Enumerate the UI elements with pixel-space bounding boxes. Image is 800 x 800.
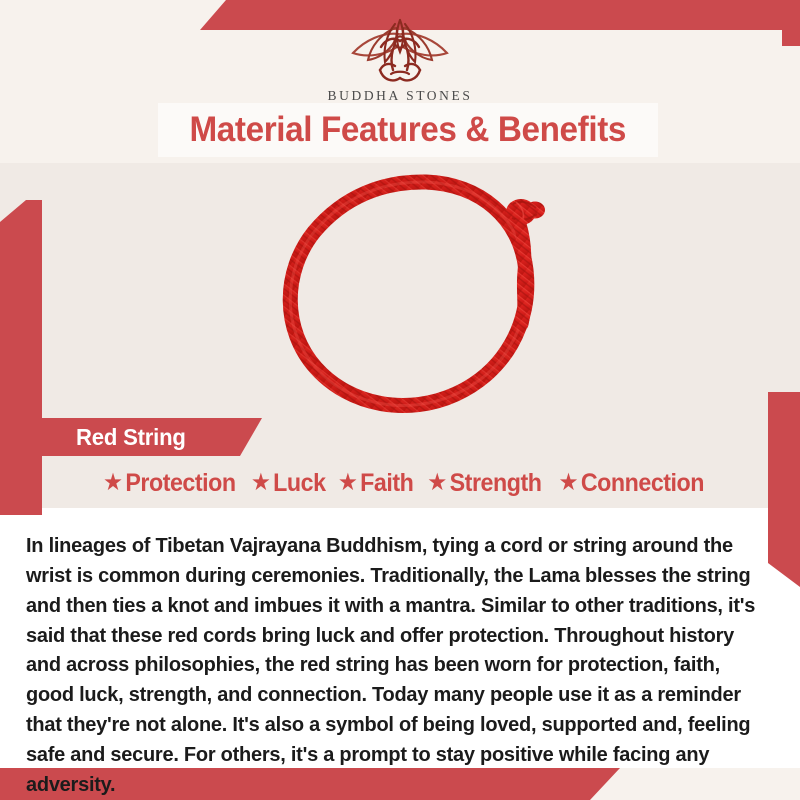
benefit-item-connection: ★ Connection xyxy=(559,469,705,498)
brand-logo: BUDDHA STONES xyxy=(0,14,800,104)
product-name-banner: Red String xyxy=(42,418,262,456)
infographic-page: BUDDHA STONES Material Features & Benefi… xyxy=(0,0,800,800)
benefit-label: Faith xyxy=(360,469,413,498)
benefit-label: Protection xyxy=(126,469,236,498)
benefit-label: Strength xyxy=(450,469,542,498)
description-paragraph: In lineages of Tibetan Vajrayana Buddhis… xyxy=(26,532,763,800)
star-icon: ★ xyxy=(428,471,448,495)
product-image xyxy=(258,160,588,432)
star-icon: ★ xyxy=(251,471,271,495)
title-band: Material Features & Benefits xyxy=(158,103,658,157)
left-lower-red-strip xyxy=(0,420,42,515)
brand-name: BUDDHA STONES xyxy=(328,88,473,104)
benefits-row: ★ Protection ★ Luck ★ Faith ★ Strength ★… xyxy=(42,462,766,504)
page-title: Material Features & Benefits xyxy=(190,110,627,150)
benefit-item-strength: ★ Strength xyxy=(428,469,542,498)
benefit-label: Connection xyxy=(581,469,704,498)
star-icon: ★ xyxy=(338,471,358,495)
benefit-item-protection: ★ Protection xyxy=(103,469,236,498)
star-icon: ★ xyxy=(559,471,579,495)
benefit-item-luck: ★ Luck xyxy=(251,469,326,498)
left-red-strip xyxy=(0,200,42,422)
product-name-label: Red String xyxy=(76,418,186,456)
lotus-meditation-icon xyxy=(325,14,475,86)
star-icon: ★ xyxy=(103,471,123,495)
benefit-label: Luck xyxy=(273,469,325,498)
benefit-item-faith: ★ Faith xyxy=(338,469,414,498)
right-red-strip xyxy=(768,392,800,587)
